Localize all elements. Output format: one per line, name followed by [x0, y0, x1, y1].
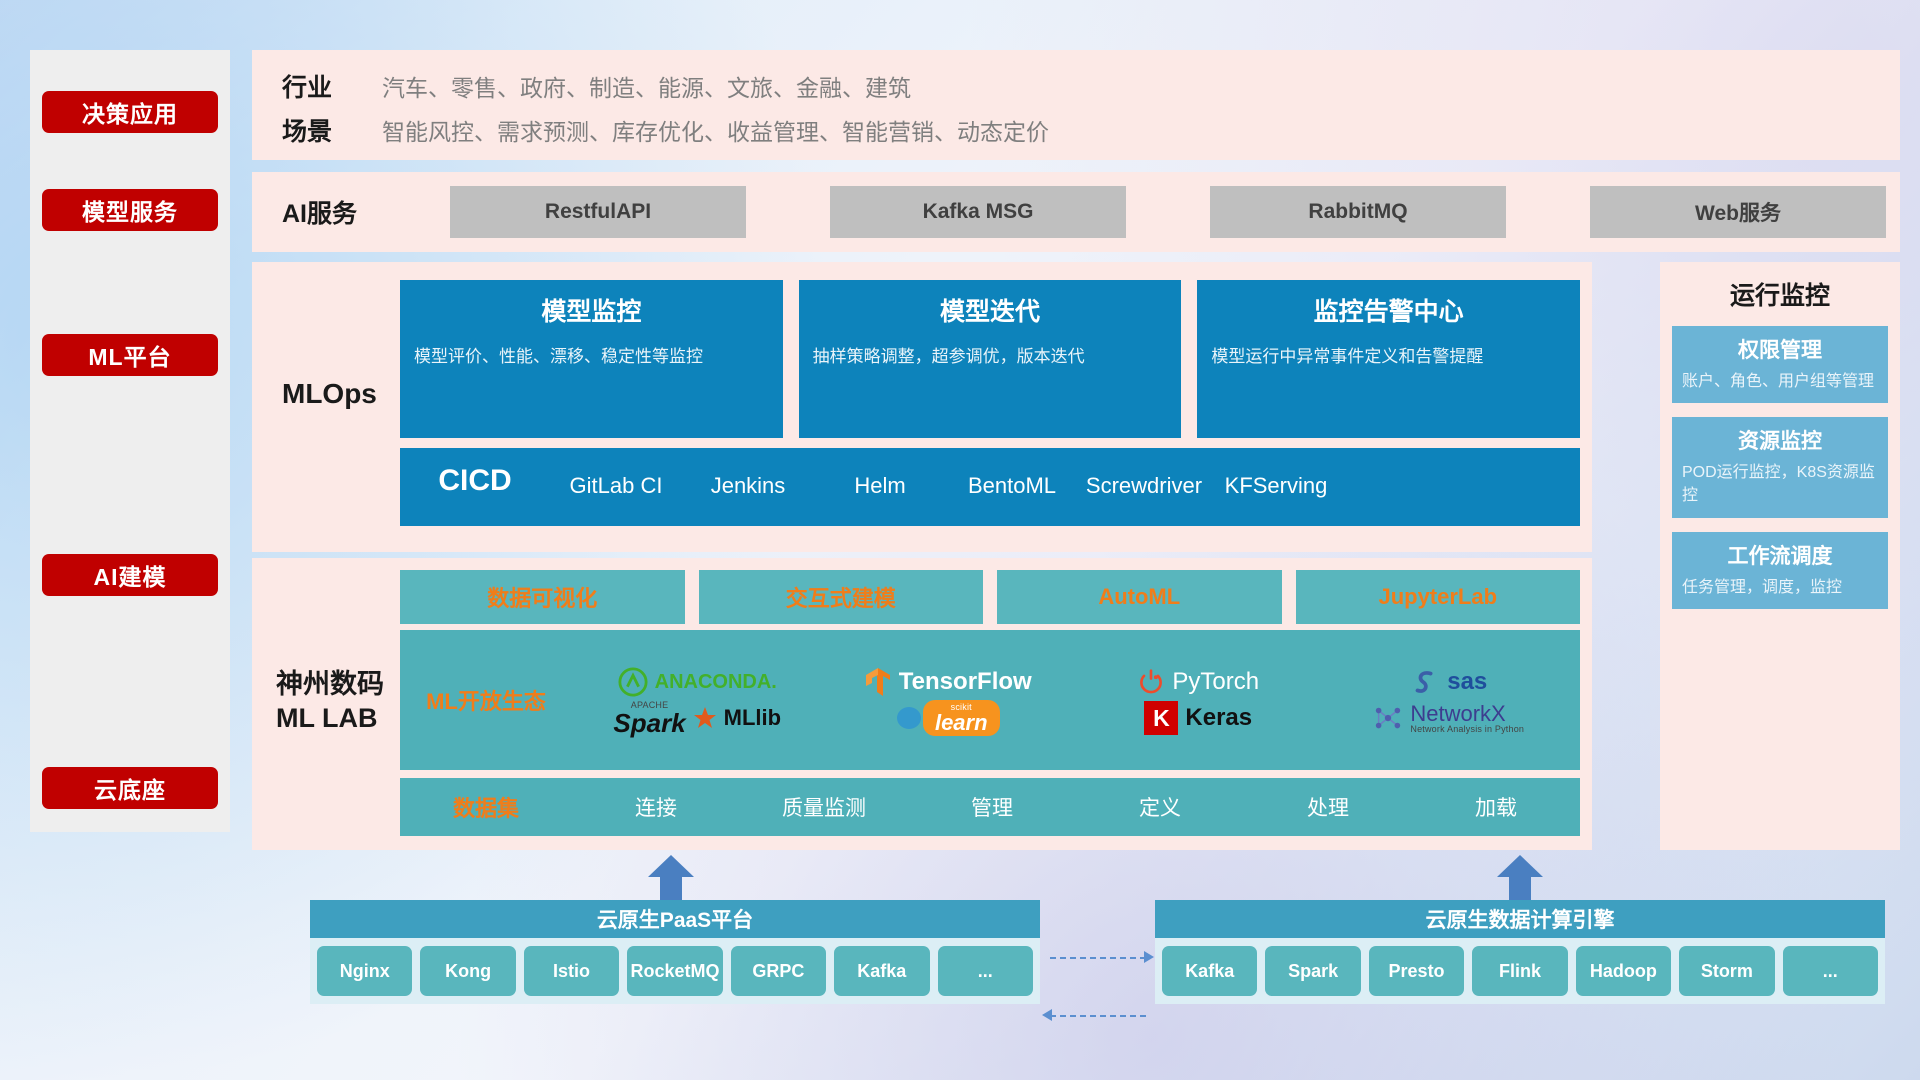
cloud-data-chip-kafka[interactable]: Kafka: [1162, 946, 1257, 996]
layer-chip-label: 模型服务: [82, 193, 178, 227]
pytorch-logo-text: PyTorch: [1172, 668, 1259, 696]
card-desc: 任务管理，调度，监控: [1682, 576, 1878, 599]
monitoring-panel: 运行监控 权限管理 账户、角色、用户组等管理 资源监控 POD运行监控，K8S资…: [1660, 262, 1900, 850]
scenario-value: 智能风控、需求预测、库存优化、收益管理、智能营销、动态定价: [382, 113, 1049, 147]
card-desc: POD运行监控，K8S资源监控: [1682, 461, 1878, 507]
card-desc: 抽样策略调整，超参调优，版本迭代: [813, 344, 1168, 370]
dataset-row: 数据集 连接 质量监测 管理 定义 处理 加载: [400, 778, 1580, 836]
cloud-paas-chip-istio[interactable]: Istio: [524, 946, 619, 996]
sas-logo-text: sas: [1447, 668, 1487, 696]
card-title: 工作流调度: [1682, 540, 1878, 570]
mlops-card-alert-center[interactable]: 监控告警中心 模型运行中异常事件定义和告警提醒: [1197, 280, 1580, 438]
cloud-data-engine-chip-list: Kafka Spark Presto Flink Hadoop Storm ..…: [1155, 938, 1885, 1004]
layer-chip-ml-platform[interactable]: ML平台: [42, 334, 218, 376]
dataset-item-load[interactable]: 加载: [1412, 792, 1580, 822]
card-title: 监控告警中心: [1211, 292, 1566, 328]
cicd-item-gitlab-ci[interactable]: GitLab CI: [550, 448, 682, 502]
dataset-item-quality[interactable]: 质量监测: [740, 792, 908, 822]
ml-lab-tool-data-visualization[interactable]: 数据可视化: [400, 570, 685, 624]
card-title: 模型监控: [414, 292, 769, 328]
cicd-label: CICD: [400, 448, 550, 498]
ml-lab-label-line1: 神州数码: [276, 668, 384, 702]
applications-panel: 行业 汽车、零售、政府、制造、能源、文旅、金融、建筑 场景 智能风控、需求预测、…: [252, 50, 1900, 160]
industry-label: 行业: [252, 68, 382, 104]
cloud-paas-group: 云原生PaaS平台 Nginx Kong Istio RocketMQ GRPC…: [310, 900, 1040, 1004]
pytorch-logo: PyTorch: [1137, 667, 1259, 697]
cicd-item-kfserving[interactable]: KFServing: [1210, 448, 1342, 502]
dataset-title: 数据集: [400, 791, 572, 823]
networkx-logo: NetworkX Network Analysis in Python: [1373, 702, 1524, 735]
dataset-item-define[interactable]: 定义: [1076, 792, 1244, 822]
monitoring-card-resource[interactable]: 资源监控 POD运行监控，K8S资源监控: [1672, 417, 1888, 517]
tensorflow-logo-text: TensorFlow: [899, 668, 1032, 696]
cicd-bar: CICD GitLab CI Jenkins Helm BentoML Scre…: [400, 448, 1580, 526]
arrow-up-data-engine-icon: [1497, 855, 1543, 903]
card-title: 权限管理: [1682, 334, 1878, 364]
cloud-data-engine-title: 云原生数据计算引擎: [1155, 900, 1885, 938]
ai-service-item-kafka-msg[interactable]: Kafka MSG: [830, 186, 1126, 238]
ai-service-list: RestfulAPI Kafka MSG RabbitMQ Web服务: [450, 186, 1886, 238]
sas-mark-icon: [1410, 667, 1440, 697]
cicd-item-jenkins[interactable]: Jenkins: [682, 448, 814, 502]
cloud-data-chip-more[interactable]: ...: [1783, 946, 1878, 996]
cloud-data-chip-presto[interactable]: Presto: [1369, 946, 1464, 996]
spark-star-icon: [693, 706, 717, 730]
pytorch-mark-icon: [1137, 667, 1165, 697]
dashed-link-left-arrow-icon: [1042, 1009, 1052, 1021]
card-desc: 模型运行中异常事件定义和告警提醒: [1211, 344, 1566, 370]
tensorflow-logo: TensorFlow: [864, 666, 1032, 698]
anaconda-mark-icon: [618, 667, 648, 697]
cicd-item-bentoml[interactable]: BentoML: [946, 448, 1078, 502]
dataset-item-connect[interactable]: 连接: [572, 792, 740, 822]
ml-lab-label-line2: ML LAB: [276, 702, 384, 736]
scikit-learn-logo: scikit learn: [896, 700, 1000, 736]
ai-service-item-rabbitmq[interactable]: RabbitMQ: [1210, 186, 1506, 238]
ai-service-panel: AI服务 RestfulAPI Kafka MSG RabbitMQ Web服务: [252, 172, 1900, 252]
cloud-data-chip-spark[interactable]: Spark: [1265, 946, 1360, 996]
cicd-item-helm[interactable]: Helm: [814, 448, 946, 502]
ml-lab-tool-list: 数据可视化 交互式建模 AutoML JupyterLab: [400, 570, 1580, 624]
keras-mark-icon: K: [1144, 701, 1178, 735]
card-desc: 账户、角色、用户组等管理: [1682, 370, 1878, 393]
ml-open-ecosystem-logos: ANACONDA. TensorFlow PyTorch: [572, 664, 1580, 736]
mllib-logo-text: MLlib: [724, 705, 781, 731]
mlops-card-model-iteration[interactable]: 模型迭代 抽样策略调整，超参调优，版本迭代: [799, 280, 1182, 438]
cloud-data-engine-group: 云原生数据计算引擎 Kafka Spark Presto Flink Hadoo…: [1155, 900, 1885, 1004]
scenario-label: 场景: [252, 112, 382, 148]
ml-open-ecosystem-title: ML开放生态: [400, 684, 572, 716]
ml-lab-tool-automl[interactable]: AutoML: [997, 570, 1282, 624]
sas-logo: sas: [1410, 667, 1487, 697]
layer-chip-label: ML平台: [88, 338, 171, 372]
cloud-paas-chip-rocketmq[interactable]: RocketMQ: [627, 946, 722, 996]
networkx-logo-text: NetworkX: [1410, 702, 1524, 725]
cloud-paas-chip-kong[interactable]: Kong: [420, 946, 515, 996]
monitoring-card-workflow[interactable]: 工作流调度 任务管理，调度，监控: [1672, 532, 1888, 609]
monitoring-title: 运行监控: [1660, 262, 1900, 312]
cloud-data-chip-hadoop[interactable]: Hadoop: [1576, 946, 1671, 996]
spark-logo-text: Spark: [613, 710, 685, 736]
monitoring-card-permission[interactable]: 权限管理 账户、角色、用户组等管理: [1672, 326, 1888, 403]
card-title: 资源监控: [1682, 425, 1878, 455]
layer-chip-label: 决策应用: [82, 95, 178, 129]
layer-rail: [30, 50, 230, 832]
ai-service-item-web[interactable]: Web服务: [1590, 186, 1886, 238]
scenario-row: 场景 智能风控、需求预测、库存优化、收益管理、智能营销、动态定价: [252, 112, 1049, 148]
networkx-mark-icon: [1373, 703, 1403, 733]
cloud-data-chip-storm[interactable]: Storm: [1679, 946, 1774, 996]
layer-chip-cloud-base[interactable]: 云底座: [42, 767, 218, 809]
anaconda-logo: ANACONDA.: [618, 667, 777, 697]
arrow-up-paas-icon: [648, 855, 694, 903]
ml-lab-tool-interactive-modeling[interactable]: 交互式建模: [699, 570, 984, 624]
mlops-card-list: 模型监控 模型评价、性能、漂移、稳定性等监控 模型迭代 抽样策略调整，超参调优，…: [400, 280, 1580, 438]
mlops-card-model-monitoring[interactable]: 模型监控 模型评价、性能、漂移、稳定性等监控: [400, 280, 783, 438]
spark-mllib-logo: APACHE Spark MLlib: [613, 701, 781, 736]
cloud-paas-chip-kafka[interactable]: Kafka: [834, 946, 929, 996]
keras-logo: K Keras: [1144, 701, 1252, 735]
mlops-label: MLOps: [282, 378, 377, 410]
tensorflow-mark-icon: [864, 666, 892, 698]
keras-logo-text: Keras: [1185, 704, 1252, 732]
dataset-item-process[interactable]: 处理: [1244, 792, 1412, 822]
ai-service-item-restfulapi[interactable]: RestfulAPI: [450, 186, 746, 238]
cloud-paas-chip-more[interactable]: ...: [938, 946, 1033, 996]
industry-value: 汽车、零售、政府、制造、能源、文旅、金融、建筑: [382, 69, 911, 103]
cloud-paas-chip-list: Nginx Kong Istio RocketMQ GRPC Kafka ...: [310, 938, 1040, 1004]
cloud-paas-chip-grpc[interactable]: GRPC: [731, 946, 826, 996]
card-title: 模型迭代: [813, 292, 1168, 328]
ml-lab-panel: 神州数码 ML LAB 数据可视化 交互式建模 AutoML JupyterLa…: [252, 558, 1592, 850]
ml-lab-tool-jupyterlab[interactable]: JupyterLab: [1296, 570, 1581, 624]
cicd-item-screwdriver[interactable]: Screwdriver: [1078, 448, 1210, 502]
card-desc: 模型评价、性能、漂移、稳定性等监控: [414, 344, 769, 370]
ml-lab-label: 神州数码 ML LAB: [276, 668, 384, 736]
layer-chip-label: 云底座: [94, 771, 166, 805]
layer-chip-ai-modeling[interactable]: AI建模: [42, 554, 218, 596]
mlops-panel: MLOps 模型监控 模型评价、性能、漂移、稳定性等监控 模型迭代 抽样策略调整…: [252, 262, 1592, 552]
cloud-paas-chip-nginx[interactable]: Nginx: [317, 946, 412, 996]
anaconda-logo-text: ANACONDA.: [655, 671, 777, 694]
dashed-link-right: [1050, 957, 1146, 959]
dataset-item-manage[interactable]: 管理: [908, 792, 1076, 822]
layer-chip-label: AI建模: [94, 558, 167, 592]
architecture-diagram: 决策应用 模型服务 ML平台 AI建模 云底座 行业 汽车、零售、政府、制造、能…: [0, 0, 1920, 1080]
dashed-link-left: [1050, 1015, 1146, 1017]
cloud-data-chip-flink[interactable]: Flink: [1472, 946, 1567, 996]
layer-chip-model-service[interactable]: 模型服务: [42, 189, 218, 231]
ai-service-label: AI服务: [282, 194, 357, 230]
industry-row: 行业 汽车、零售、政府、制造、能源、文旅、金融、建筑: [252, 68, 911, 104]
ml-open-ecosystem: ML开放生态 ANACONDA. TensorFlow: [400, 630, 1580, 770]
networkx-logo-subtext: Network Analysis in Python: [1410, 725, 1524, 734]
dashed-link-right-arrow-icon: [1144, 951, 1154, 963]
cloud-paas-title: 云原生PaaS平台: [310, 900, 1040, 938]
scikit-learn-logo-text: learn: [935, 712, 988, 734]
layer-chip-decision-app[interactable]: 决策应用: [42, 91, 218, 133]
